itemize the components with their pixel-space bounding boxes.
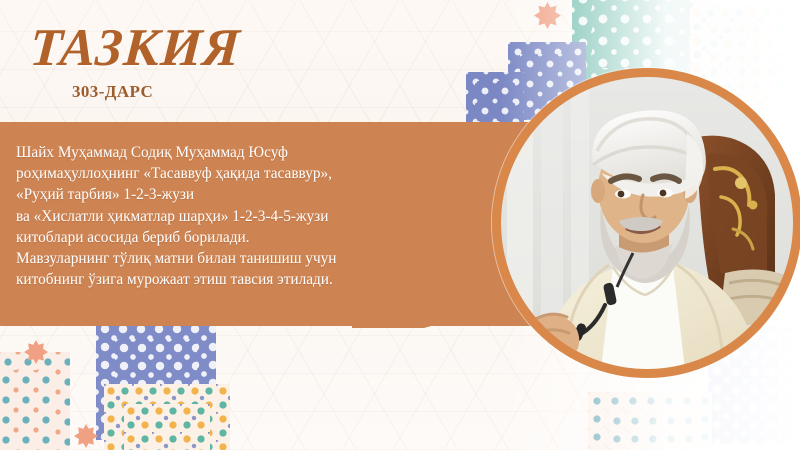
- description-line-4: ва «Хислатли ҳикматлар шарҳи» 1-2-3-4-5-…: [16, 206, 486, 227]
- description-text: Шайх Муҳаммад Содиқ Муҳаммад Юсуф роҳима…: [16, 142, 486, 290]
- portrait-ring: [492, 68, 800, 378]
- description-line-2: роҳимаҳуллоҳнинг «Тасаввуф ҳақида тасавв…: [16, 163, 486, 184]
- portrait: [492, 68, 800, 378]
- ornament-quatrefoil-multicolor-bottomleft: [104, 384, 230, 450]
- description-line-5: китоблари асосида бериб борилади.: [16, 227, 486, 248]
- description-line-1: Шайх Муҳаммад Содиқ Муҳаммад Юсуф: [16, 142, 486, 163]
- description-line-6: Мавзуларнинг тўлиқ матни билан танишиш у…: [16, 248, 486, 269]
- lesson-number-label: 303-ДАРС: [72, 82, 240, 102]
- description-line-3: «Руҳий тарбия» 1-2-3-жузи: [16, 184, 486, 205]
- title-block: ТАЗКИЯ 303-ДАРС: [30, 22, 240, 102]
- ornament-quatrefoil-salmon-bottomleft: [0, 352, 70, 450]
- poster-canvas: Шайх Муҳаммад Содиқ Муҳаммад Юсуф роҳима…: [0, 0, 800, 450]
- page-title: ТАЗКИЯ: [28, 22, 242, 75]
- description-line-7: китобнинг ўзига мурожаат этиш тавсия эти…: [16, 269, 486, 290]
